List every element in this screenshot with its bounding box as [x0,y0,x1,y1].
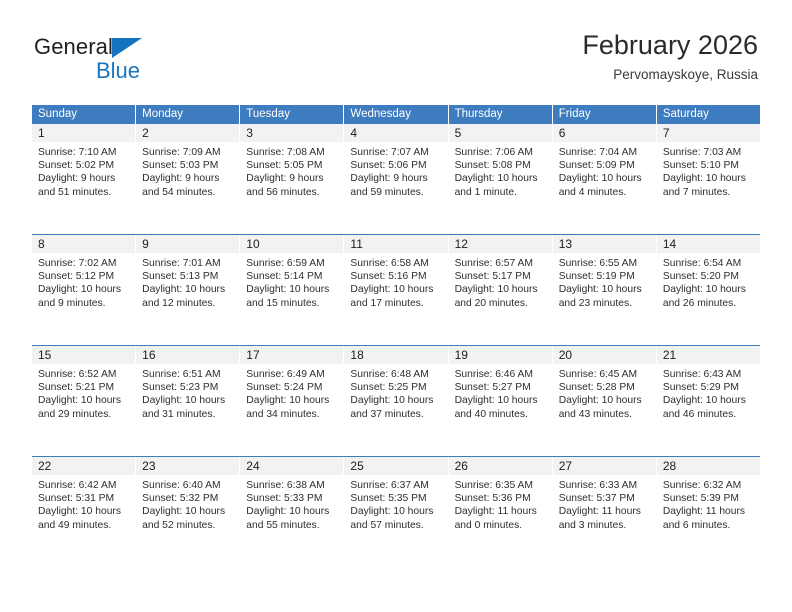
day-sunset-text: Sunset: 5:19 PM [559,270,650,283]
day-daylight-line-text: Daylight: 10 hours [246,394,337,407]
calendar-day-cell[interactable]: 6Sunrise: 7:04 AMSunset: 5:09 PMDaylight… [553,124,657,234]
weekday-header-wednesday: Wednesday [344,105,448,124]
logo-text-blue: Blue [96,60,140,82]
calendar-day-cell[interactable]: 4Sunrise: 7:07 AMSunset: 5:06 PMDaylight… [344,124,448,234]
day-number: 21 [657,346,760,364]
day-details: Sunrise: 6:33 AMSunset: 5:37 PMDaylight:… [553,475,656,532]
day-daylight-line-text: and 56 minutes. [246,186,337,199]
day-number: 6 [553,124,656,142]
day-sunrise-text: Sunrise: 6:55 AM [559,257,650,270]
day-sunrise-text: Sunrise: 6:52 AM [38,368,129,381]
day-daylight-line-text: and 54 minutes. [142,186,233,199]
day-number: 10 [240,235,343,253]
day-sunrise-text: Sunrise: 7:09 AM [142,146,233,159]
day-daylight-line-text: Daylight: 10 hours [142,283,233,296]
day-sunrise-text: Sunrise: 7:10 AM [38,146,129,159]
day-details: Sunrise: 6:52 AMSunset: 5:21 PMDaylight:… [32,364,135,421]
day-number: 1 [32,124,135,142]
calendar-weeks: 1Sunrise: 7:10 AMSunset: 5:02 PMDaylight… [32,124,760,567]
day-sunrise-text: Sunrise: 7:01 AM [142,257,233,270]
weekday-header-tuesday: Tuesday [240,105,344,124]
day-daylight-line-text: Daylight: 10 hours [350,283,441,296]
day-sunrise-text: Sunrise: 6:49 AM [246,368,337,381]
day-sunset-text: Sunset: 5:10 PM [663,159,754,172]
calendar-day-cell[interactable]: 10Sunrise: 6:59 AMSunset: 5:14 PMDayligh… [240,235,344,345]
calendar-day-cell[interactable]: 14Sunrise: 6:54 AMSunset: 5:20 PMDayligh… [657,235,760,345]
day-details: Sunrise: 6:55 AMSunset: 5:19 PMDaylight:… [553,253,656,310]
day-daylight-line-text: and 59 minutes. [350,186,441,199]
calendar-day-cell[interactable]: 9Sunrise: 7:01 AMSunset: 5:13 PMDaylight… [136,235,240,345]
calendar-day-cell[interactable]: 25Sunrise: 6:37 AMSunset: 5:35 PMDayligh… [344,457,448,567]
day-daylight-line-text: and 3 minutes. [559,519,650,532]
day-daylight-line-text: Daylight: 10 hours [455,172,546,185]
day-number: 8 [32,235,135,253]
day-number: 2 [136,124,239,142]
calendar-page: General Blue February 2026 Pervomayskoye… [0,0,792,612]
weekday-header-sunday: Sunday [32,105,136,124]
day-number: 14 [657,235,760,253]
day-number: 18 [344,346,447,364]
day-daylight-line-text: and 0 minutes. [455,519,546,532]
day-daylight-line-text: Daylight: 10 hours [142,505,233,518]
day-number: 24 [240,457,343,475]
day-sunset-text: Sunset: 5:02 PM [38,159,129,172]
day-daylight-line-text: Daylight: 10 hours [663,394,754,407]
day-sunrise-text: Sunrise: 6:46 AM [455,368,546,381]
calendar-day-cell[interactable]: 11Sunrise: 6:58 AMSunset: 5:16 PMDayligh… [344,235,448,345]
weekday-header-row: Sunday Monday Tuesday Wednesday Thursday… [32,105,760,124]
day-daylight-line-text: Daylight: 10 hours [559,283,650,296]
day-details: Sunrise: 6:46 AMSunset: 5:27 PMDaylight:… [449,364,552,421]
day-details: Sunrise: 6:42 AMSunset: 5:31 PMDaylight:… [32,475,135,532]
calendar-week-row: 8Sunrise: 7:02 AMSunset: 5:12 PMDaylight… [32,234,760,345]
day-daylight-line-text: and 26 minutes. [663,297,754,310]
day-daylight-line-text: and 52 minutes. [142,519,233,532]
day-sunset-text: Sunset: 5:20 PM [663,270,754,283]
weekday-header-thursday: Thursday [449,105,553,124]
day-sunrise-text: Sunrise: 6:35 AM [455,479,546,492]
day-sunrise-text: Sunrise: 7:07 AM [350,146,441,159]
day-daylight-line-text: Daylight: 10 hours [455,394,546,407]
day-daylight-line-text: and 46 minutes. [663,408,754,421]
day-daylight-line-text: Daylight: 10 hours [663,172,754,185]
day-daylight-line-text: and 7 minutes. [663,186,754,199]
calendar-day-cell[interactable]: 23Sunrise: 6:40 AMSunset: 5:32 PMDayligh… [136,457,240,567]
day-details: Sunrise: 7:06 AMSunset: 5:08 PMDaylight:… [449,142,552,199]
page-subtitle: Pervomayskoye, Russia [582,67,758,83]
page-title: February 2026 [582,30,758,61]
day-sunrise-text: Sunrise: 6:32 AM [663,479,754,492]
calendar-day-cell[interactable]: 26Sunrise: 6:35 AMSunset: 5:36 PMDayligh… [449,457,553,567]
day-sunrise-text: Sunrise: 6:33 AM [559,479,650,492]
calendar-day-cell[interactable]: 5Sunrise: 7:06 AMSunset: 5:08 PMDaylight… [449,124,553,234]
day-daylight-line-text: Daylight: 9 hours [142,172,233,185]
calendar-day-cell[interactable]: 8Sunrise: 7:02 AMSunset: 5:12 PMDaylight… [32,235,136,345]
day-daylight-line-text: and 51 minutes. [38,186,129,199]
day-daylight-line-text: Daylight: 9 hours [38,172,129,185]
blue-triangle-icon [112,38,142,58]
day-sunrise-text: Sunrise: 7:02 AM [38,257,129,270]
day-daylight-line-text: Daylight: 10 hours [350,394,441,407]
day-daylight-line-text: and 34 minutes. [246,408,337,421]
calendar-day-cell[interactable]: 15Sunrise: 6:52 AMSunset: 5:21 PMDayligh… [32,346,136,456]
day-daylight-line-text: and 12 minutes. [142,297,233,310]
day-number: 9 [136,235,239,253]
day-sunset-text: Sunset: 5:08 PM [455,159,546,172]
day-daylight-line-text: Daylight: 10 hours [38,505,129,518]
day-daylight-line-text: Daylight: 10 hours [246,283,337,296]
day-sunrise-text: Sunrise: 7:06 AM [455,146,546,159]
day-details: Sunrise: 6:32 AMSunset: 5:39 PMDaylight:… [657,475,760,532]
day-number: 27 [553,457,656,475]
day-daylight-line-text: Daylight: 9 hours [350,172,441,185]
day-details: Sunrise: 6:35 AMSunset: 5:36 PMDaylight:… [449,475,552,532]
calendar-day-cell[interactable]: 22Sunrise: 6:42 AMSunset: 5:31 PMDayligh… [32,457,136,567]
day-daylight-line-text: and 23 minutes. [559,297,650,310]
day-sunset-text: Sunset: 5:16 PM [350,270,441,283]
calendar-day-cell[interactable]: 1Sunrise: 7:10 AMSunset: 5:02 PMDaylight… [32,124,136,234]
day-sunrise-text: Sunrise: 6:54 AM [663,257,754,270]
day-sunset-text: Sunset: 5:31 PM [38,492,129,505]
day-daylight-line-text: and 40 minutes. [455,408,546,421]
day-details: Sunrise: 7:04 AMSunset: 5:09 PMDaylight:… [553,142,656,199]
calendar-day-cell[interactable]: 13Sunrise: 6:55 AMSunset: 5:19 PMDayligh… [553,235,657,345]
day-number: 7 [657,124,760,142]
day-sunrise-text: Sunrise: 6:40 AM [142,479,233,492]
day-number: 4 [344,124,447,142]
day-number: 5 [449,124,552,142]
day-sunset-text: Sunset: 5:14 PM [246,270,337,283]
calendar-day-cell[interactable]: 2Sunrise: 7:09 AMSunset: 5:03 PMDaylight… [136,124,240,234]
day-sunrise-text: Sunrise: 7:08 AM [246,146,337,159]
day-daylight-line-text: and 20 minutes. [455,297,546,310]
day-details: Sunrise: 6:54 AMSunset: 5:20 PMDaylight:… [657,253,760,310]
calendar-week-row: 15Sunrise: 6:52 AMSunset: 5:21 PMDayligh… [32,345,760,456]
day-sunset-text: Sunset: 5:35 PM [350,492,441,505]
day-sunset-text: Sunset: 5:39 PM [663,492,754,505]
day-daylight-line-text: and 49 minutes. [38,519,129,532]
weekday-header-saturday: Saturday [657,105,760,124]
day-number: 15 [32,346,135,364]
day-sunset-text: Sunset: 5:21 PM [38,381,129,394]
calendar-day-cell[interactable]: 27Sunrise: 6:33 AMSunset: 5:37 PMDayligh… [553,457,657,567]
day-sunset-text: Sunset: 5:05 PM [246,159,337,172]
day-sunset-text: Sunset: 5:13 PM [142,270,233,283]
day-daylight-line-text: and 9 minutes. [38,297,129,310]
page-header: General Blue February 2026 Pervomayskoye… [34,30,758,100]
day-sunrise-text: Sunrise: 6:38 AM [246,479,337,492]
calendar-day-cell[interactable]: 28Sunrise: 6:32 AMSunset: 5:39 PMDayligh… [657,457,760,567]
day-sunset-text: Sunset: 5:36 PM [455,492,546,505]
day-details: Sunrise: 7:10 AMSunset: 5:02 PMDaylight:… [32,142,135,199]
day-number: 26 [449,457,552,475]
day-details: Sunrise: 7:07 AMSunset: 5:06 PMDaylight:… [344,142,447,199]
calendar-day-cell[interactable]: 24Sunrise: 6:38 AMSunset: 5:33 PMDayligh… [240,457,344,567]
day-sunset-text: Sunset: 5:17 PM [455,270,546,283]
day-daylight-line-text: and 37 minutes. [350,408,441,421]
calendar-grid: Sunday Monday Tuesday Wednesday Thursday… [32,105,760,567]
day-number: 19 [449,346,552,364]
day-sunset-text: Sunset: 5:33 PM [246,492,337,505]
day-details: Sunrise: 7:08 AMSunset: 5:05 PMDaylight:… [240,142,343,199]
day-daylight-line-text: Daylight: 10 hours [38,283,129,296]
calendar-day-cell[interactable]: 7Sunrise: 7:03 AMSunset: 5:10 PMDaylight… [657,124,760,234]
calendar-day-cell[interactable]: 12Sunrise: 6:57 AMSunset: 5:17 PMDayligh… [449,235,553,345]
generalblue-logo[interactable]: General Blue [34,34,214,88]
day-details: Sunrise: 6:59 AMSunset: 5:14 PMDaylight:… [240,253,343,310]
title-block: February 2026 Pervomayskoye, Russia [582,30,758,83]
day-details: Sunrise: 7:09 AMSunset: 5:03 PMDaylight:… [136,142,239,199]
day-sunrise-text: Sunrise: 6:58 AM [350,257,441,270]
day-sunset-text: Sunset: 5:06 PM [350,159,441,172]
day-daylight-line-text: Daylight: 10 hours [246,505,337,518]
day-sunset-text: Sunset: 5:32 PM [142,492,233,505]
day-daylight-line-text: Daylight: 11 hours [559,505,650,518]
day-number: 20 [553,346,656,364]
day-daylight-line-text: Daylight: 11 hours [455,505,546,518]
day-number: 3 [240,124,343,142]
day-daylight-line-text: and 4 minutes. [559,186,650,199]
calendar-day-cell[interactable]: 20Sunrise: 6:45 AMSunset: 5:28 PMDayligh… [553,346,657,456]
day-details: Sunrise: 6:38 AMSunset: 5:33 PMDaylight:… [240,475,343,532]
day-daylight-line-text: Daylight: 10 hours [142,394,233,407]
day-details: Sunrise: 6:48 AMSunset: 5:25 PMDaylight:… [344,364,447,421]
day-daylight-line-text: and 55 minutes. [246,519,337,532]
calendar-week-row: 1Sunrise: 7:10 AMSunset: 5:02 PMDaylight… [32,124,760,234]
day-sunrise-text: Sunrise: 6:45 AM [559,368,650,381]
day-sunset-text: Sunset: 5:03 PM [142,159,233,172]
day-sunset-text: Sunset: 5:28 PM [559,381,650,394]
day-sunrise-text: Sunrise: 6:48 AM [350,368,441,381]
day-number: 12 [449,235,552,253]
day-daylight-line-text: and 43 minutes. [559,408,650,421]
day-number: 25 [344,457,447,475]
day-daylight-line-text: and 31 minutes. [142,408,233,421]
calendar-day-cell[interactable]: 18Sunrise: 6:48 AMSunset: 5:25 PMDayligh… [344,346,448,456]
logo-text-general: General [34,36,113,58]
day-sunset-text: Sunset: 5:25 PM [350,381,441,394]
day-daylight-line-text: and 6 minutes. [663,519,754,532]
day-daylight-line-text: Daylight: 10 hours [455,283,546,296]
calendar-day-cell[interactable]: 16Sunrise: 6:51 AMSunset: 5:23 PMDayligh… [136,346,240,456]
day-details: Sunrise: 7:01 AMSunset: 5:13 PMDaylight:… [136,253,239,310]
day-daylight-line-text: and 1 minute. [455,186,546,199]
day-number: 28 [657,457,760,475]
day-sunset-text: Sunset: 5:27 PM [455,381,546,394]
day-sunrise-text: Sunrise: 7:04 AM [559,146,650,159]
day-details: Sunrise: 7:02 AMSunset: 5:12 PMDaylight:… [32,253,135,310]
day-sunrise-text: Sunrise: 7:03 AM [663,146,754,159]
day-sunset-text: Sunset: 5:24 PM [246,381,337,394]
day-daylight-line-text: Daylight: 10 hours [38,394,129,407]
day-details: Sunrise: 6:58 AMSunset: 5:16 PMDaylight:… [344,253,447,310]
day-daylight-line-text: and 29 minutes. [38,408,129,421]
day-number: 23 [136,457,239,475]
day-sunrise-text: Sunrise: 6:37 AM [350,479,441,492]
calendar-week-row: 22Sunrise: 6:42 AMSunset: 5:31 PMDayligh… [32,456,760,567]
calendar-day-cell[interactable]: 19Sunrise: 6:46 AMSunset: 5:27 PMDayligh… [449,346,553,456]
day-number: 17 [240,346,343,364]
day-daylight-line-text: and 17 minutes. [350,297,441,310]
day-sunrise-text: Sunrise: 6:59 AM [246,257,337,270]
calendar-day-cell[interactable]: 21Sunrise: 6:43 AMSunset: 5:29 PMDayligh… [657,346,760,456]
day-details: Sunrise: 6:37 AMSunset: 5:35 PMDaylight:… [344,475,447,532]
day-number: 11 [344,235,447,253]
day-details: Sunrise: 6:51 AMSunset: 5:23 PMDaylight:… [136,364,239,421]
day-daylight-line-text: Daylight: 10 hours [350,505,441,518]
day-daylight-line-text: Daylight: 9 hours [246,172,337,185]
day-sunset-text: Sunset: 5:09 PM [559,159,650,172]
day-sunset-text: Sunset: 5:37 PM [559,492,650,505]
day-number: 13 [553,235,656,253]
day-daylight-line-text: and 57 minutes. [350,519,441,532]
day-details: Sunrise: 7:03 AMSunset: 5:10 PMDaylight:… [657,142,760,199]
weekday-header-monday: Monday [136,105,240,124]
day-number: 22 [32,457,135,475]
day-sunrise-text: Sunrise: 6:43 AM [663,368,754,381]
day-sunset-text: Sunset: 5:23 PM [142,381,233,394]
day-sunset-text: Sunset: 5:12 PM [38,270,129,283]
day-details: Sunrise: 6:40 AMSunset: 5:32 PMDaylight:… [136,475,239,532]
day-sunrise-text: Sunrise: 6:57 AM [455,257,546,270]
day-number: 16 [136,346,239,364]
day-daylight-line-text: Daylight: 10 hours [559,394,650,407]
day-daylight-line-text: and 15 minutes. [246,297,337,310]
calendar-day-cell[interactable]: 3Sunrise: 7:08 AMSunset: 5:05 PMDaylight… [240,124,344,234]
day-details: Sunrise: 6:49 AMSunset: 5:24 PMDaylight:… [240,364,343,421]
day-daylight-line-text: Daylight: 11 hours [663,505,754,518]
day-sunset-text: Sunset: 5:29 PM [663,381,754,394]
day-sunrise-text: Sunrise: 6:42 AM [38,479,129,492]
day-daylight-line-text: Daylight: 10 hours [559,172,650,185]
day-details: Sunrise: 6:45 AMSunset: 5:28 PMDaylight:… [553,364,656,421]
weekday-header-friday: Friday [553,105,657,124]
calendar-day-cell[interactable]: 17Sunrise: 6:49 AMSunset: 5:24 PMDayligh… [240,346,344,456]
day-daylight-line-text: Daylight: 10 hours [663,283,754,296]
day-details: Sunrise: 6:57 AMSunset: 5:17 PMDaylight:… [449,253,552,310]
day-sunrise-text: Sunrise: 6:51 AM [142,368,233,381]
day-details: Sunrise: 6:43 AMSunset: 5:29 PMDaylight:… [657,364,760,421]
